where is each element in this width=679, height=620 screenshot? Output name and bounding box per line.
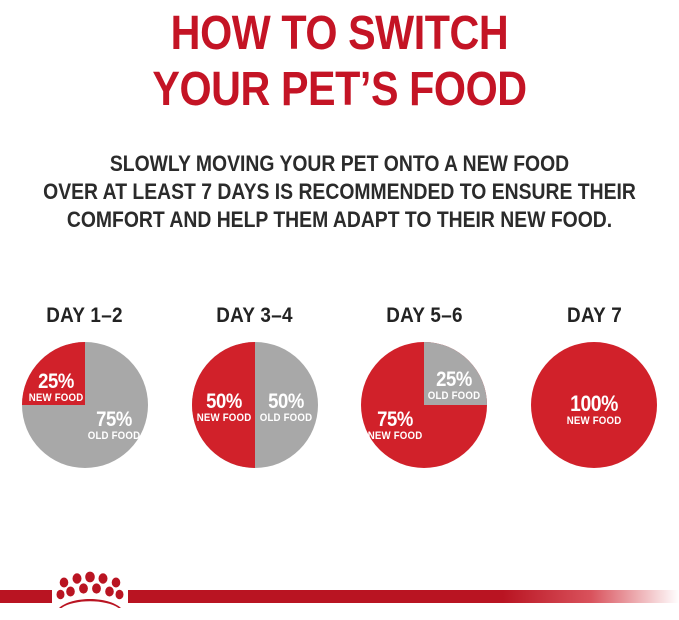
footer-bar-right	[128, 590, 679, 603]
pie-group-day-1-2: DAY 1–2 25% NEW FOOD 75% OLD FOOD	[5, 305, 165, 469]
pie-label-percent: 25%	[428, 369, 481, 390]
pie-label-series: OLD FOOD	[258, 413, 313, 424]
pie-svg-day-1-2	[21, 341, 149, 469]
pie-label-new-food-day-1-2: 25% NEW FOOD	[29, 371, 84, 404]
pie-svg-day-5-6	[360, 341, 488, 469]
pie-chart-row: DAY 1–2 25% NEW FOOD 75% OLD FOOD DAY 3–…	[0, 305, 679, 485]
pie-chart-day-1-2: 25% NEW FOOD 75% OLD FOOD	[21, 341, 149, 469]
pie-label-series: NEW FOOD	[567, 416, 622, 427]
page-title: HOW TO SWITCH YOUR PET’S FOOD	[0, 6, 679, 118]
pie-label-old-food-day-1-2: 75% OLD FOOD	[87, 409, 142, 442]
page-subtitle-line-2: OVER AT LEAST 7 DAYS IS RECOMMENDED TO E…	[41, 178, 639, 206]
footer	[0, 590, 679, 620]
pie-label-new-food-day-5-6: 75% NEW FOOD	[368, 409, 423, 442]
pie-label-percent: 50%	[196, 391, 251, 412]
pie-group-day-7: DAY 7 100% NEW FOOD	[514, 305, 674, 469]
crown-icon	[52, 568, 128, 610]
day-label-3: DAY 5–6	[386, 305, 463, 327]
pie-label-series: OLD FOOD	[428, 391, 481, 402]
pie-group-day-3-4: DAY 3–4 50% NEW FOOD 50% OLD FOOD	[175, 305, 335, 469]
page-subtitle: SLOWLY MOVING YOUR PET ONTO A NEW FOOD O…	[0, 150, 679, 234]
pie-label-new-food-day-3-4: 50% NEW FOOD	[196, 391, 251, 424]
pie-label-series: NEW FOOD	[196, 413, 251, 424]
page-subtitle-line-3: COMFORT AND HELP THEM ADAPT TO THEIR NEW…	[41, 206, 639, 234]
pie-chart-day-7: 100% NEW FOOD	[530, 341, 658, 469]
footer-bar-left	[0, 590, 52, 603]
day-label-1: DAY 1–2	[47, 305, 124, 327]
day-label-2: DAY 3–4	[216, 305, 293, 327]
pie-label-percent: 50%	[258, 391, 313, 412]
pie-label-series: NEW FOOD	[368, 431, 423, 442]
pie-label-percent: 25%	[29, 371, 84, 392]
pie-label-percent: 100%	[567, 393, 622, 415]
day-label-4: DAY 7	[567, 305, 622, 327]
pie-label-percent: 75%	[87, 409, 142, 430]
page-title-line-2: YOUR PET’S FOOD	[48, 62, 632, 118]
pie-label-percent: 75%	[368, 409, 423, 430]
pie-chart-day-3-4: 50% NEW FOOD 50% OLD FOOD	[191, 341, 319, 469]
page-title-line-1: HOW TO SWITCH	[48, 6, 632, 62]
pie-label-old-food-day-3-4: 50% OLD FOOD	[258, 391, 313, 424]
pie-group-day-5-6: DAY 5–6 25% OLD FOOD 75% NEW FOOD	[344, 305, 504, 469]
royal-canin-crown-logo	[52, 568, 128, 610]
pie-chart-day-5-6: 25% OLD FOOD 75% NEW FOOD	[360, 341, 488, 469]
pie-label-series: NEW FOOD	[29, 393, 84, 404]
page-subtitle-line-1: SLOWLY MOVING YOUR PET ONTO A NEW FOOD	[41, 150, 639, 178]
pie-label-new-food-day-7: 100% NEW FOOD	[567, 393, 622, 427]
pie-label-old-food-day-5-6: 25% OLD FOOD	[428, 369, 481, 402]
pie-label-series: OLD FOOD	[87, 431, 142, 442]
